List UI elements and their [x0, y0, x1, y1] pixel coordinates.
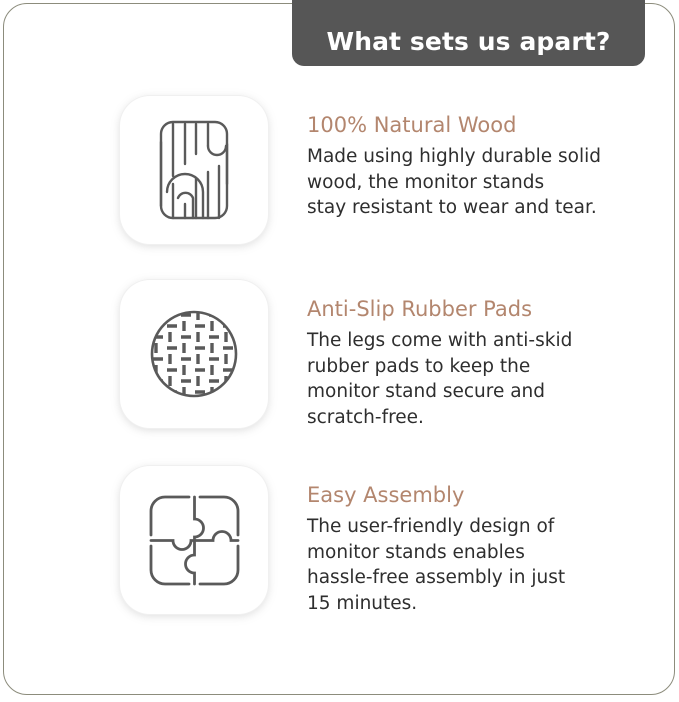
feature-list: 100% Natural Wood Made using highly dura… [0, 96, 679, 616]
feature-item: Anti-Slip Rubber Pads The legs come with… [0, 280, 679, 430]
rubber-pad-weave-icon-tile [120, 280, 268, 428]
feature-title: Easy Assembly [307, 482, 629, 509]
wood-grain-icon-tile [120, 96, 268, 244]
feature-text-block: 100% Natural Wood Made using highly dura… [268, 96, 629, 221]
feature-text-block: Easy Assembly The user-friendly design o… [268, 466, 629, 616]
feature-item: Easy Assembly The user-friendly design o… [0, 466, 679, 616]
feature-title: Anti-Slip Rubber Pads [307, 296, 629, 323]
feature-description: Made using highly durable solid wood, th… [307, 144, 629, 221]
feature-text-block: Anti-Slip Rubber Pads The legs come with… [268, 280, 629, 430]
section-banner: What sets us apart? [292, 0, 645, 66]
feature-description: The user-friendly design of monitor stan… [307, 514, 629, 616]
puzzle-pieces-icon-tile [120, 466, 268, 614]
feature-title: 100% Natural Wood [307, 112, 629, 139]
wood-grain-icon [148, 120, 240, 220]
feature-description: The legs come with anti-skid rubber pads… [307, 328, 629, 430]
banner-title: What sets us apart? [327, 26, 611, 58]
rubber-pad-weave-icon [147, 307, 241, 401]
puzzle-pieces-icon [147, 493, 242, 588]
feature-item: 100% Natural Wood Made using highly dura… [0, 96, 679, 244]
